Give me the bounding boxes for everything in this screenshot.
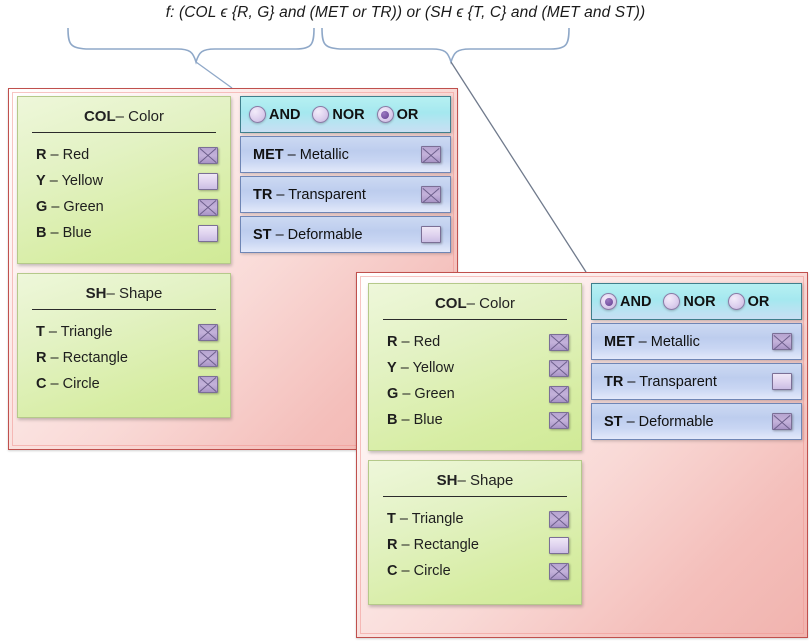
leader-line-group-1 — [196, 62, 232, 88]
radio-label: OR — [397, 107, 419, 123]
operator-row-label: MET – Metallic — [253, 147, 421, 163]
attribute-name: Color — [479, 295, 515, 312]
attribute-box-color: COL– Color R – Red Y – Yellow G – Green … — [368, 283, 582, 451]
option-label: R – Rectangle — [387, 537, 549, 553]
checkbox-x-icon[interactable] — [549, 511, 569, 528]
radio-option-nor[interactable]: NOR — [312, 106, 364, 123]
radio-label: AND — [269, 107, 300, 123]
leader-line-group-2 — [451, 62, 586, 272]
option-label: R – Red — [387, 334, 549, 350]
attribute-option-row[interactable]: C – Circle — [369, 558, 581, 584]
operator-panel: AND NOR OR MET – Metallic TR – Transpare… — [591, 283, 802, 440]
option-label: T – Triangle — [387, 511, 549, 527]
attribute-option-row[interactable]: Y – Yellow — [18, 168, 230, 194]
radio-option-nor[interactable]: NOR — [663, 293, 715, 310]
brace-right — [322, 28, 569, 62]
radio-label: AND — [620, 294, 651, 310]
condition-group-2: COL– Color R – Red Y – Yellow G – Green … — [356, 272, 808, 638]
checkbox-x-icon[interactable] — [549, 563, 569, 580]
radio-button-selected-icon[interactable] — [377, 106, 394, 123]
attribute-option-list: R – Red Y – Yellow G – Green B – Blue — [369, 326, 581, 441]
checkbox-x-icon[interactable] — [198, 199, 218, 216]
attribute-name: Color — [128, 108, 164, 125]
operator-row-st[interactable]: ST – Deformable — [240, 216, 451, 253]
checkbox-x-icon[interactable] — [421, 146, 441, 163]
attribute-option-list: T – Triangle R – Rectangle C – Circle — [369, 503, 581, 592]
checkbox-empty-icon[interactable] — [198, 225, 218, 242]
attribute-title: COL– Color — [369, 284, 581, 319]
radio-button-selected-icon[interactable] — [600, 293, 617, 310]
checkbox-x-icon[interactable] — [772, 413, 792, 430]
title-divider — [32, 132, 216, 133]
radio-button-icon[interactable] — [249, 106, 266, 123]
checkbox-x-icon[interactable] — [198, 350, 218, 367]
attribute-name: Shape — [119, 285, 162, 302]
operator-row-met[interactable]: MET – Metallic — [240, 136, 451, 173]
attribute-option-row[interactable]: C – Circle — [18, 371, 230, 397]
attribute-dash: – — [457, 472, 465, 489]
option-label: T – Triangle — [36, 324, 198, 340]
attribute-option-row[interactable]: R – Red — [18, 142, 230, 168]
attribute-option-list: T – Triangle R – Rectangle C – Circle — [18, 316, 230, 405]
radio-button-icon[interactable] — [663, 293, 680, 310]
attribute-option-row[interactable]: Y – Yellow — [369, 355, 581, 381]
title-divider — [383, 496, 567, 497]
option-label: G – Green — [387, 386, 549, 402]
operator-row-label: TR – Transparent — [253, 187, 421, 203]
checkbox-empty-icon[interactable] — [772, 373, 792, 390]
attribute-code: SH — [437, 472, 458, 489]
brace-left — [68, 28, 314, 62]
attribute-dash: – — [106, 285, 114, 302]
option-label: Y – Yellow — [36, 173, 198, 189]
attribute-option-row[interactable]: T – Triangle — [18, 319, 230, 345]
operator-panel: AND NOR OR MET – Metallic TR – Transpare… — [240, 96, 451, 253]
attribute-title: SH– Shape — [18, 274, 230, 309]
checkbox-x-icon[interactable] — [772, 333, 792, 350]
checkbox-x-icon[interactable] — [198, 147, 218, 164]
title-divider — [32, 309, 216, 310]
option-label: R – Red — [36, 147, 198, 163]
operator-row-tr[interactable]: TR – Transparent — [240, 176, 451, 213]
attribute-box-shape: SH– Shape T – Triangle R – Rectangle C –… — [368, 460, 582, 605]
attribute-title: COL– Color — [18, 97, 230, 132]
operator-radio-group: AND NOR OR — [240, 96, 451, 133]
logic-formula: f: (COL ϵ {R, G} and (MET or TR)) or (SH… — [0, 4, 811, 22]
attribute-title: SH– Shape — [369, 461, 581, 496]
radio-label: OR — [748, 294, 770, 310]
attribute-code: SH — [86, 285, 107, 302]
option-label: B – Blue — [387, 412, 549, 428]
attribute-option-row[interactable]: T – Triangle — [369, 506, 581, 532]
radio-option-or[interactable]: OR — [728, 293, 770, 310]
checkbox-empty-icon[interactable] — [198, 173, 218, 190]
radio-button-icon[interactable] — [728, 293, 745, 310]
attribute-option-row[interactable]: R – Rectangle — [18, 345, 230, 371]
option-label: G – Green — [36, 199, 198, 215]
title-divider — [383, 319, 567, 320]
attribute-option-row[interactable]: R – Rectangle — [369, 532, 581, 558]
radio-label: NOR — [683, 294, 715, 310]
checkbox-x-icon[interactable] — [549, 360, 569, 377]
radio-button-icon[interactable] — [312, 106, 329, 123]
checkbox-x-icon[interactable] — [549, 412, 569, 429]
radio-option-or[interactable]: OR — [377, 106, 419, 123]
attribute-option-row[interactable]: R – Red — [369, 329, 581, 355]
operator-row-label: ST – Deformable — [604, 414, 772, 430]
radio-option-and[interactable]: AND — [249, 106, 300, 123]
attribute-box-color: COL– Color R – Red Y – Yellow G – Green … — [17, 96, 231, 264]
attribute-code: COL — [84, 108, 116, 125]
attribute-dash: – — [116, 108, 124, 125]
radio-option-and[interactable]: AND — [600, 293, 651, 310]
option-label: C – Circle — [36, 376, 198, 392]
operator-row-tr[interactable]: TR – Transparent — [591, 363, 802, 400]
operator-row-label: ST – Deformable — [253, 227, 421, 243]
operator-row-met[interactable]: MET – Metallic — [591, 323, 802, 360]
attribute-code: COL — [435, 295, 467, 312]
checkbox-empty-icon[interactable] — [549, 537, 569, 554]
operator-row-label: TR – Transparent — [604, 374, 772, 390]
attribute-name: Shape — [470, 472, 513, 489]
attribute-option-row[interactable]: G – Green — [18, 194, 230, 220]
attribute-option-list: R – Red Y – Yellow G – Green B – Blue — [18, 139, 230, 254]
option-label: C – Circle — [387, 563, 549, 579]
operator-row-label: MET – Metallic — [604, 334, 772, 350]
checkbox-x-icon[interactable] — [549, 386, 569, 403]
checkbox-x-icon[interactable] — [198, 376, 218, 393]
attribute-dash: – — [467, 295, 475, 312]
option-label: R – Rectangle — [36, 350, 198, 366]
attribute-option-row[interactable]: G – Green — [369, 381, 581, 407]
checkbox-empty-icon[interactable] — [421, 226, 441, 243]
checkbox-x-icon[interactable] — [198, 324, 218, 341]
attribute-option-row[interactable]: B – Blue — [18, 220, 230, 246]
operator-radio-group: AND NOR OR — [591, 283, 802, 320]
radio-label: NOR — [332, 107, 364, 123]
option-label: B – Blue — [36, 225, 198, 241]
attribute-box-shape: SH– Shape T – Triangle R – Rectangle C –… — [17, 273, 231, 418]
checkbox-x-icon[interactable] — [421, 186, 441, 203]
checkbox-x-icon[interactable] — [549, 334, 569, 351]
option-label: Y – Yellow — [387, 360, 549, 376]
attribute-option-row[interactable]: B – Blue — [369, 407, 581, 433]
operator-row-st[interactable]: ST – Deformable — [591, 403, 802, 440]
